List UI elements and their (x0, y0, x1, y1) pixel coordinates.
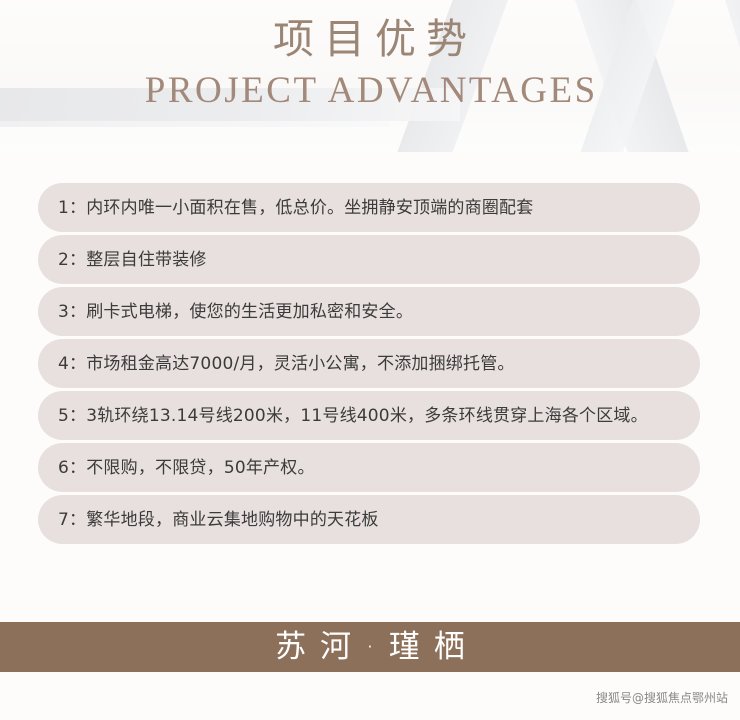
list-item-label: 5：3轨环绕13.14号线200米，11号线400米，多条环线贯穿上海各个区域。 (58, 404, 648, 428)
list-item: 6：不限购，不限贷，50年产权。 (38, 443, 700, 492)
page-title: 项目优势 (0, 12, 740, 66)
project-name-band: 苏河·瑾栖 (0, 622, 740, 672)
header-accent-band-secondary (0, 121, 390, 127)
page-subtitle: PROJECT ADVANTAGES (0, 67, 740, 115)
list-item-label: 4：市场租金高达7000/月，灵活小公寓，不添加捆绑托管。 (58, 352, 515, 376)
list-item: 5：3轨环绕13.14号线200米，11号线400米，多条环线贯穿上海各个区域。 (38, 391, 700, 440)
list-item-label: 7：繁华地段，商业云集地购物中的天花板 (58, 508, 379, 532)
header-text-block: 项目优势 PROJECT ADVANTAGES (0, 0, 740, 115)
list-item: 1：内环内唯一小面积在售，低总价。坐拥静安顶端的商圈配套 (38, 183, 700, 232)
list-item: 7：繁华地段，商业云集地购物中的天花板 (38, 495, 700, 544)
list-item-label: 3：刷卡式电梯，使您的生活更加私密和安全。 (58, 300, 413, 324)
list-item-label: 6：不限购，不限贷，50年产权。 (58, 456, 315, 480)
source-watermark: 搜狐号@搜狐焦点鄂州站 (596, 690, 728, 706)
advantages-list: 1：内环内唯一小面积在售，低总价。坐拥静安顶端的商圈配套 2：整层自住带装修 3… (0, 152, 740, 544)
project-name: 苏河·瑾栖 (261, 627, 479, 667)
list-item-label: 1：内环内唯一小面积在售，低总价。坐拥静安顶端的商圈配套 (58, 196, 533, 220)
list-item-label: 2：整层自住带装修 (58, 248, 207, 272)
page-footer: 苏河·瑾栖 搜狐号@搜狐焦点鄂州站 (0, 622, 740, 672)
list-item: 2：整层自住带装修 (38, 235, 700, 284)
list-item: 4：市场租金高达7000/月，灵活小公寓，不添加捆绑托管。 (38, 339, 700, 388)
page-header: 项目优势 PROJECT ADVANTAGES (0, 0, 740, 152)
list-item: 3：刷卡式电梯，使您的生活更加私密和安全。 (38, 287, 700, 336)
